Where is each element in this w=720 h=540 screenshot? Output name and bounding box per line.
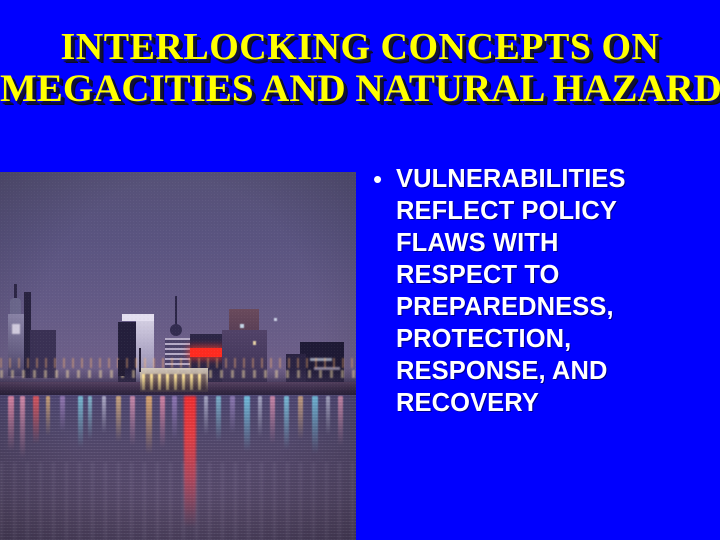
slide-body: • VULNERABILITIES REFLECT POLICY FLAWS W… — [368, 163, 698, 419]
title-line-1: INTERLOCKING CONCEPTS ON — [0, 26, 720, 68]
slide-title: INTERLOCKING CONCEPTS ON MEGACITIES AND … — [0, 26, 720, 110]
red-neon-sign — [190, 348, 222, 357]
bullet-line: PROTECTION, — [396, 323, 698, 355]
riverboat-funnel — [118, 360, 125, 376]
window-light-a — [240, 324, 244, 328]
photo-water-ripple — [0, 395, 356, 540]
bullet-dot-icon: • — [368, 163, 396, 195]
bullet-line: RESPECT TO — [396, 259, 698, 291]
photo-dark-foreground — [0, 377, 356, 397]
building-white-tower-cap — [122, 314, 154, 321]
bullet-line: RECOVERY — [396, 387, 698, 419]
building-antenna-base — [170, 324, 182, 336]
title-line-2: MEGACITIES AND NATURAL HAZARDS — [0, 68, 720, 110]
waterfront-lights-row-1 — [0, 358, 356, 368]
window-light-b — [253, 341, 256, 345]
window-light-e — [274, 318, 277, 321]
bullet-text: VULNERABILITIES REFLECT POLICY FLAWS WIT… — [396, 163, 698, 419]
bullet-line: VULNERABILITIES — [396, 163, 698, 195]
city-skyline-photo — [0, 172, 356, 540]
presentation-slide: INTERLOCKING CONCEPTS ON MEGACITIES AND … — [0, 0, 720, 540]
bullet-line: REFLECT POLICY — [396, 195, 698, 227]
clock-tower-light — [12, 324, 20, 334]
riverboat-mast — [139, 348, 141, 372]
bullet-line: FLAWS WITH — [396, 227, 698, 259]
bullet-line: PREPAREDNESS, — [396, 291, 698, 323]
bullet-line: RESPONSE, AND — [396, 355, 698, 387]
bullet-item: • VULNERABILITIES REFLECT POLICY FLAWS W… — [368, 163, 698, 419]
